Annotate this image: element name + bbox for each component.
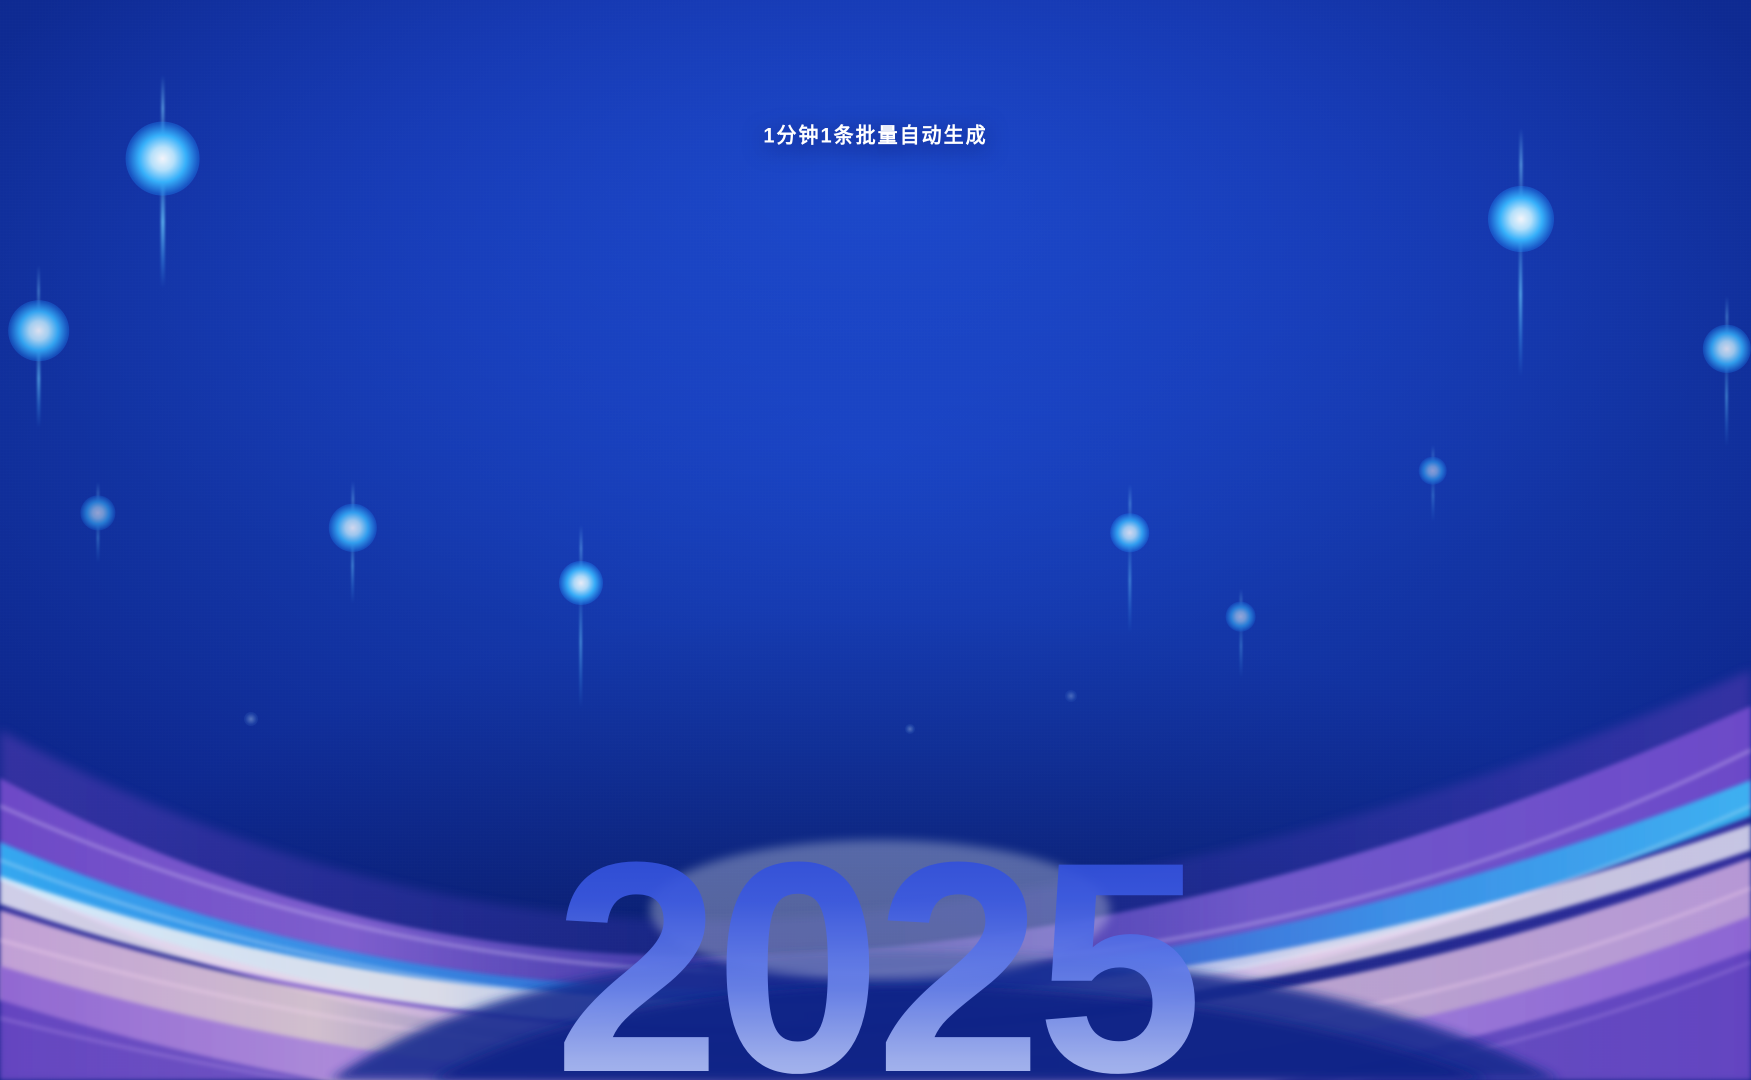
headline-line: 1分钟1条批量自动生成 bbox=[0, 125, 1751, 147]
year-watermark: 2025 bbox=[0, 825, 1751, 1080]
headline-text-stack: 2025年最新蓝海爆火长久赛道 情感查询保姆级教程 1分钟1条批量自动生成 小白… bbox=[0, 0, 1751, 193]
poster-canvas: 2025 2025年最新蓝海爆火长久赛道 情感查询保姆级教程 1分钟1条批量自动… bbox=[0, 0, 1751, 1080]
